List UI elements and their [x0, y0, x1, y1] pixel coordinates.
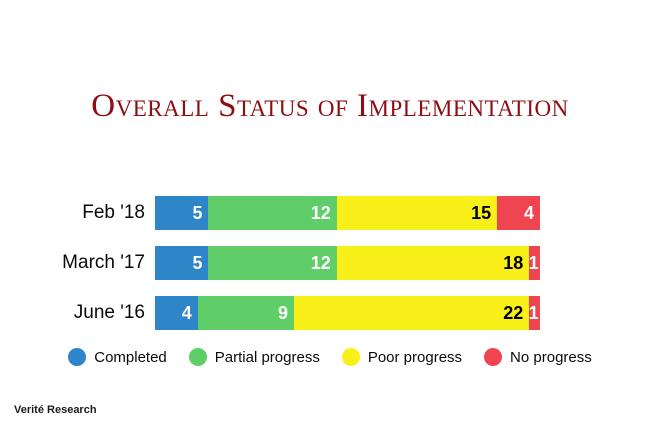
bar-segment-partial-progress[interactable]: 12 [208, 196, 336, 230]
bar-segment-value: 12 [311, 253, 331, 274]
bar-track: 49221 [155, 296, 540, 330]
legend-swatch-circle-icon [68, 348, 86, 366]
footer-attribution: Verité Research [14, 404, 97, 416]
bar-segment-completed[interactable]: 4 [155, 296, 198, 330]
bar-row-label: Feb '18 [0, 196, 145, 230]
bar-segment-completed[interactable]: 5 [155, 196, 208, 230]
bar-row: March '17512181 [0, 246, 660, 280]
bar-segment-value: 18 [503, 253, 523, 274]
bar-segment-no-progress[interactable]: 1 [529, 246, 540, 280]
bar-row-label: March '17 [0, 246, 145, 280]
legend-item-label: Completed [94, 349, 167, 366]
bar-segment-value: 5 [192, 253, 202, 274]
bar-segment-value: 4 [182, 303, 192, 324]
bar-segment-value: 12 [311, 203, 331, 224]
legend-item-label: Poor progress [368, 349, 462, 366]
bar-track: 512154 [155, 196, 540, 230]
bar-segment-no-progress[interactable]: 4 [497, 196, 540, 230]
bar-segment-value: 5 [192, 203, 202, 224]
bar-segment-poor-progress[interactable]: 15 [337, 196, 497, 230]
stacked-bar-chart: Feb '18512154March '17512181June '164922… [0, 186, 660, 336]
bar-segment-partial-progress[interactable]: 9 [198, 296, 294, 330]
bar-segment-value: 9 [278, 303, 288, 324]
legend-item-label: Partial progress [215, 349, 320, 366]
bar-segment-partial-progress[interactable]: 12 [208, 246, 336, 280]
chart-legend: CompletedPartial progressPoor progressNo… [0, 344, 660, 370]
bar-segment-value: 1 [529, 253, 538, 274]
bar-row-label: June '16 [0, 296, 145, 330]
bar-row: Feb '18512154 [0, 196, 660, 230]
bar-row: June '1649221 [0, 296, 660, 330]
bar-track: 512181 [155, 246, 540, 280]
legend-item-poor[interactable]: Poor progress [342, 348, 462, 366]
legend-item-completed[interactable]: Completed [68, 348, 167, 366]
bar-segment-value: 1 [529, 303, 538, 324]
legend-swatch-circle-icon [484, 348, 502, 366]
legend-item-partial[interactable]: Partial progress [189, 348, 320, 366]
bar-segment-value: 22 [503, 303, 523, 324]
legend-swatch-circle-icon [342, 348, 360, 366]
legend-item-label: No progress [510, 349, 592, 366]
bar-segment-no-progress[interactable]: 1 [529, 296, 540, 330]
page-title: Overall Status of Implementation [0, 86, 660, 126]
bar-segment-value: 4 [524, 203, 534, 224]
bar-segment-value: 15 [471, 203, 491, 224]
legend-item-none[interactable]: No progress [484, 348, 592, 366]
bar-segment-completed[interactable]: 5 [155, 246, 208, 280]
bar-segment-poor-progress[interactable]: 18 [337, 246, 530, 280]
bar-segment-poor-progress[interactable]: 22 [294, 296, 529, 330]
legend-swatch-circle-icon [189, 348, 207, 366]
